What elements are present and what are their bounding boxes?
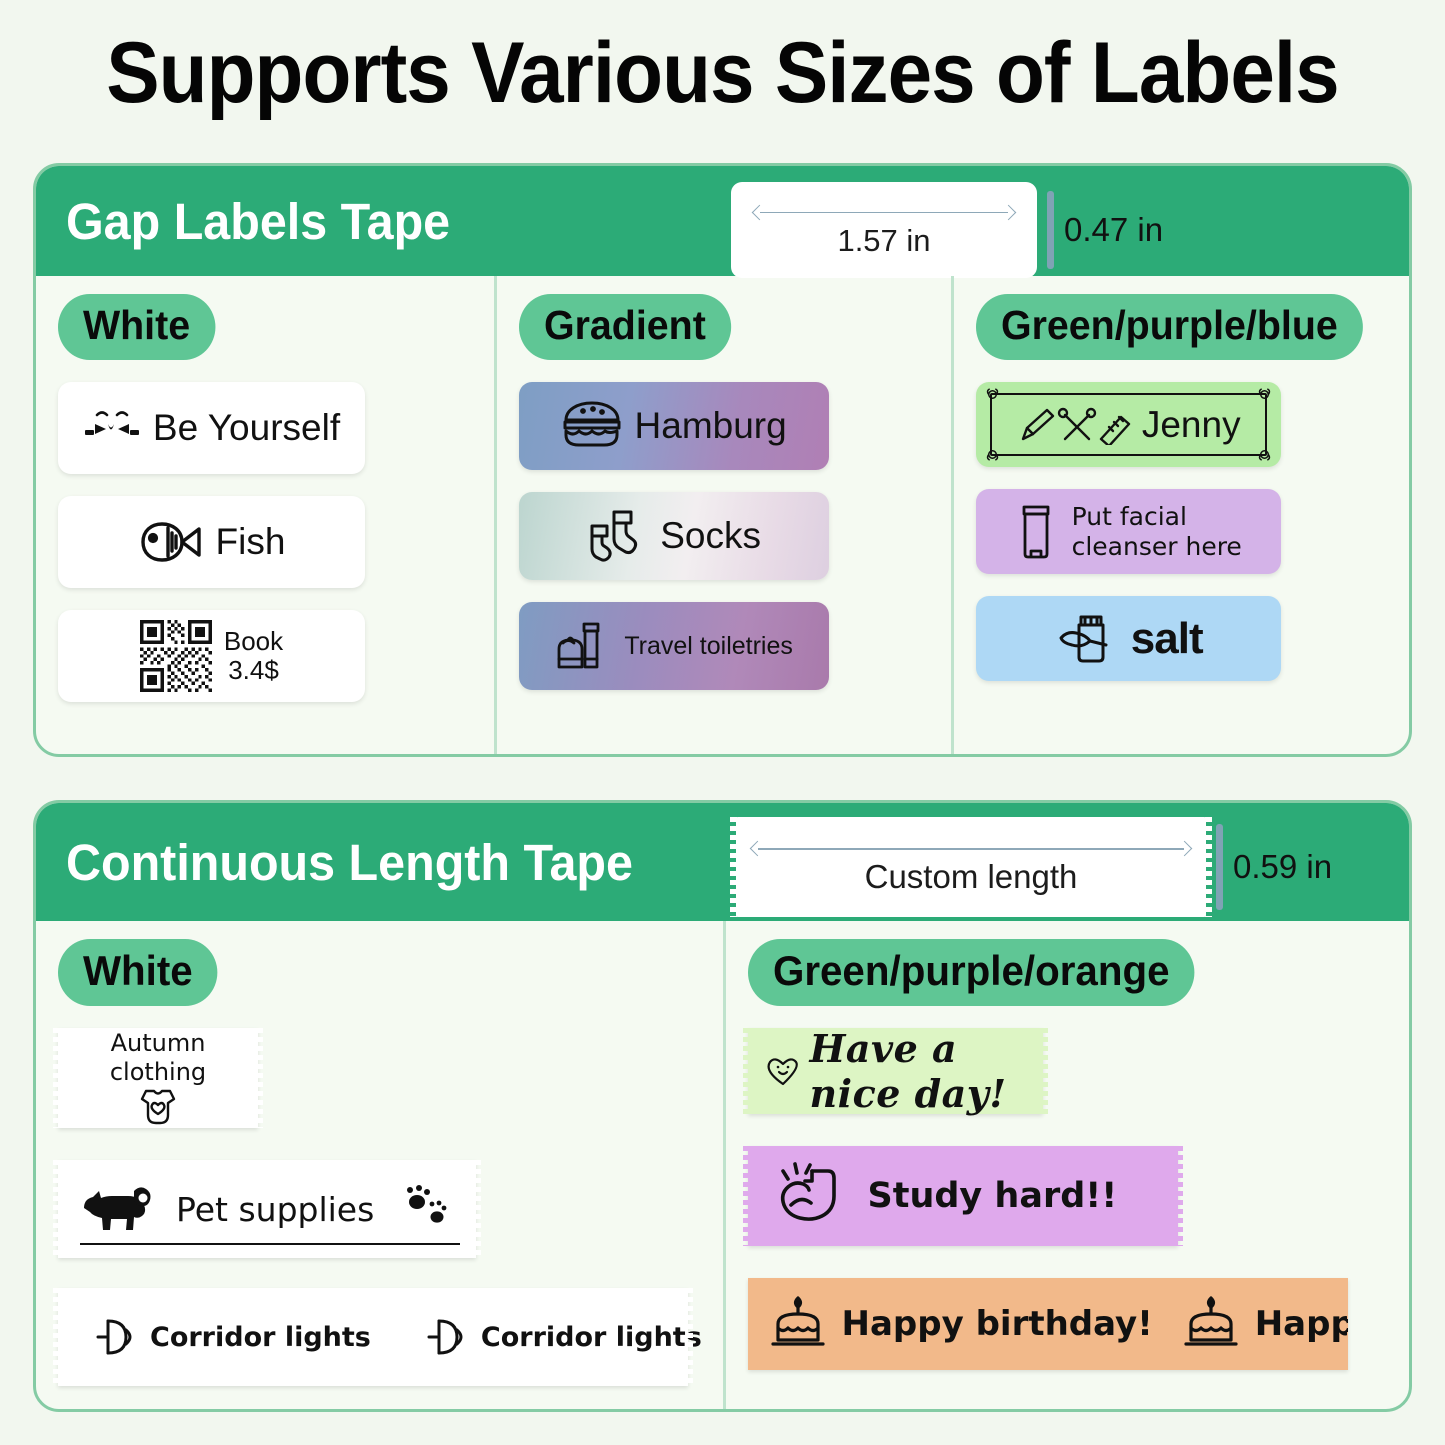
label-sample-pet-supplies[interactable]: Pet supplies — [58, 1160, 476, 1258]
pill-colored-gap: Green/purple/blue — [976, 294, 1363, 360]
column-white-gap: White — [36, 276, 494, 754]
label-sample-study-hard[interactable]: Study hard!! — [748, 1146, 1178, 1246]
torn-edge-left — [730, 817, 737, 917]
width-label-gap: 1.57 in — [837, 223, 930, 259]
corner-flourish-icon — [984, 447, 1001, 462]
dimension-indicator-gap: 1.57 in 0.47 in — [731, 182, 1163, 278]
label-text: Autumn clothing — [110, 1029, 206, 1088]
dimension-box-gap: 1.57 in — [731, 182, 1037, 278]
label-sample-travel-toiletries[interactable]: Travel toiletries — [519, 602, 829, 690]
samples-gradient-gap: Hamburg — [497, 382, 952, 690]
label-text-line1: Autumn — [111, 1029, 206, 1057]
corner-flourish-icon — [1256, 447, 1273, 462]
section-body-gap-labels: White — [36, 276, 1409, 754]
section-header-gap-labels: Gap Labels Tape 1.57 in 0.47 in — [36, 166, 1409, 276]
label-text-line2: clothing — [110, 1058, 206, 1086]
samples-white-continuous: Autumn clothing — [36, 1028, 723, 1386]
column-colored-gap: Green/purple/blue — [951, 276, 1409, 754]
section-card-continuous-length: Continuous Length Tape Custom length 0.5… — [33, 800, 1412, 1412]
torn-edge-right — [1205, 817, 1212, 917]
corner-flourish-icon — [984, 387, 1001, 402]
paw-prints-icon — [388, 1184, 448, 1234]
label-sample-corridor-lights[interactable]: Corridor lights — [58, 1288, 688, 1386]
heart-face-icon — [764, 1054, 802, 1088]
label-text: Have a nice day! — [810, 1026, 1043, 1116]
section-body-continuous: White Autumn clothing — [36, 921, 1409, 1409]
flexed-bicep-icon — [776, 1161, 848, 1231]
wall-lamp-icon — [427, 1316, 471, 1358]
label-sample-happy-birthday[interactable]: Happy birthday! — [748, 1278, 1348, 1370]
pill-gradient-gap: Gradient — [519, 294, 731, 360]
label-text-line2: cleanser here — [1072, 532, 1242, 561]
infographic-page: Supports Various Sizes of Labels Gap Lab… — [0, 0, 1445, 1445]
qr-code-icon — [140, 620, 212, 692]
cleanser-tube-icon — [1016, 503, 1056, 561]
hamburger-icon — [561, 400, 623, 452]
width-arrow-icon — [750, 842, 1192, 856]
pill-colored-continuous: Green/purple/orange — [748, 939, 1194, 1006]
birthday-cake-icon-repeat — [1183, 1294, 1239, 1354]
salt-shaker-icon — [1055, 611, 1117, 667]
label-text-line2: 3.4$ — [228, 655, 279, 685]
wall-lamp-icon — [96, 1316, 140, 1358]
label-sample-have-a-nice-day[interactable]: Have a nice day! — [748, 1028, 1043, 1114]
label-sample-autumn-clothing[interactable]: Autumn clothing — [58, 1028, 258, 1128]
label-text: Travel toiletries — [624, 632, 793, 661]
label-text: Corridor lights — [150, 1322, 371, 1353]
birthday-cake-icon — [770, 1294, 826, 1354]
toiletries-icon — [554, 619, 612, 673]
section-header-continuous: Continuous Length Tape Custom length 0.5… — [36, 803, 1409, 921]
height-bar-icon — [1047, 191, 1054, 269]
height-label-gap: 0.47 in — [1064, 211, 1163, 249]
section-title-gap-labels: Gap Labels Tape — [66, 192, 450, 251]
label-text-line1: Put facial — [1072, 502, 1187, 531]
label-text: Fish — [216, 521, 286, 563]
width-label-continuous: Custom length — [865, 858, 1078, 896]
label-text: Book 3.4$ — [224, 627, 283, 685]
label-sample-book[interactable]: Book 3.4$ — [58, 610, 365, 702]
section-title-continuous: Continuous Length Tape — [66, 833, 633, 892]
width-arrow-icon — [752, 206, 1015, 220]
page-title: Supports Various Sizes of Labels — [51, 24, 1395, 123]
samples-colored-gap: Jenny — [954, 382, 1409, 681]
corner-flourish-icon — [1256, 387, 1273, 402]
label-sample-socks[interactable]: Socks — [519, 492, 829, 580]
label-sample-salt[interactable]: salt — [976, 596, 1281, 681]
samples-white-gap: Be Yourself — [36, 382, 494, 702]
pill-white-gap: White — [58, 294, 215, 360]
section-card-gap-labels: Gap Labels Tape 1.57 in 0.47 in White — [33, 163, 1412, 757]
label-text: Put facial cleanser here — [1072, 502, 1242, 562]
dimension-indicator-continuous: Custom length 0.59 in — [736, 817, 1332, 917]
label-text: Be Yourself — [153, 407, 340, 449]
label-text: Study hard!! — [868, 1176, 1118, 1216]
samples-colored-continuous: Have a nice day! — [726, 1028, 1410, 1370]
label-text: salt — [1131, 614, 1203, 664]
corridor-lights-item-repeat: Corridor lights — [427, 1316, 702, 1358]
label-text: Pet supplies — [176, 1190, 374, 1229]
label-sample-be-yourself[interactable]: Be Yourself — [58, 382, 365, 474]
pill-white-continuous: White — [58, 939, 218, 1006]
label-text: Socks — [660, 515, 761, 557]
label-text: Happy birthday! — [842, 1304, 1153, 1344]
baby-onesie-icon — [134, 1087, 182, 1127]
label-sample-hamburg[interactable]: Hamburg — [519, 382, 829, 470]
label-text-repeat: Corridor lights — [481, 1322, 702, 1353]
label-text-repeat: Happy birth — [1255, 1304, 1348, 1344]
underline-rule — [80, 1243, 460, 1245]
column-white-continuous: White Autumn clothing — [36, 921, 723, 1409]
fish-icon — [138, 517, 204, 567]
height-bar-icon — [1216, 824, 1223, 910]
label-sample-fish[interactable]: Fish — [58, 496, 365, 588]
label-sample-jenny[interactable]: Jenny — [976, 382, 1281, 467]
socks-icon — [586, 508, 648, 564]
kaomoji-cat-face-icon — [83, 410, 141, 446]
column-gradient-gap: Gradient — [494, 276, 952, 754]
column-colored-continuous: Green/purple/orange — [723, 921, 1410, 1409]
dimension-box-continuous: Custom length — [736, 817, 1206, 917]
label-text: Hamburg — [635, 405, 787, 447]
dog-icon — [80, 1178, 162, 1240]
corridor-lights-item: Corridor lights — [96, 1316, 371, 1358]
label-text-line1: Book — [224, 626, 283, 656]
decorative-frame — [990, 393, 1267, 456]
label-sample-facial-cleanser[interactable]: Put facial cleanser here — [976, 489, 1281, 574]
height-label-continuous: 0.59 in — [1233, 848, 1332, 886]
